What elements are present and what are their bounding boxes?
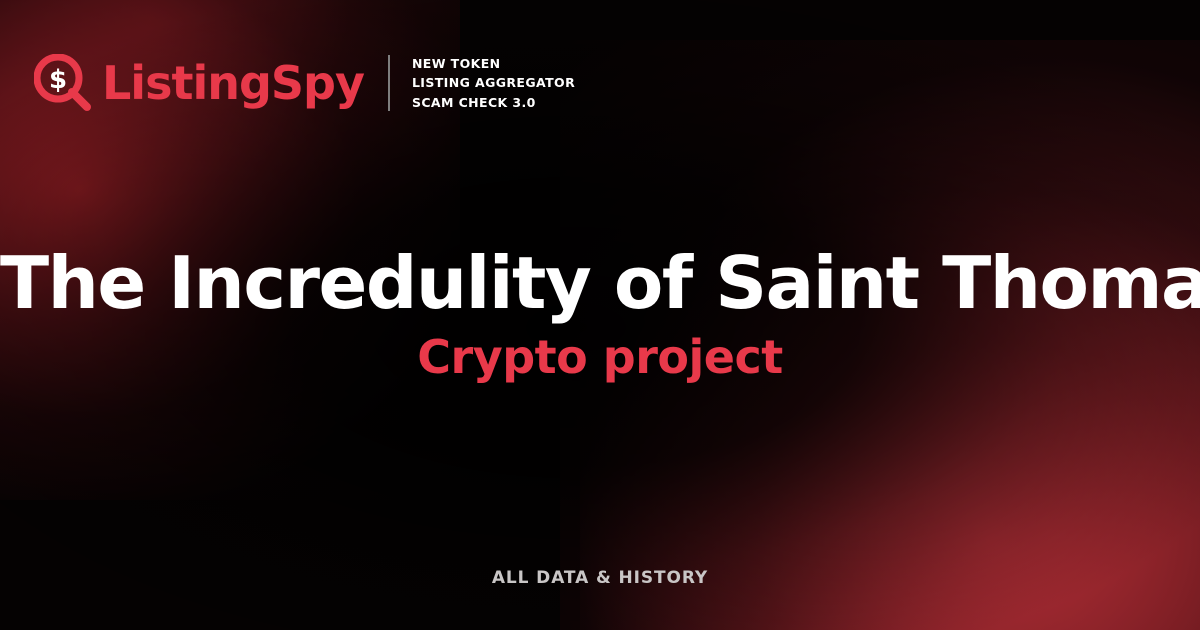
footer-caption: ALL DATA & HISTORY [492,568,708,588]
page-title: The Incredulity of Saint Thoma... [0,243,1200,324]
background-glow-top-left [0,0,460,280]
hero-section: The Incredulity of Saint Thoma... Crypto… [0,243,1200,382]
promo-banner: $ ListingSpy NEW TOKEN LISTING AGGREGATO… [0,0,1200,630]
brand-wordmark: ListingSpy [102,60,364,106]
tagline-line-1: NEW TOKEN [412,56,501,71]
svg-text:$: $ [49,65,67,95]
tagline-line-2: LISTING AGGREGATOR [412,75,575,90]
brand-header: $ ListingSpy NEW TOKEN LISTING AGGREGATO… [34,54,575,112]
footer-section: ALL DATA & HISTORY [0,568,1200,588]
tagline-line-3: SCAM CHECK 3.0 [412,95,536,110]
header-divider [388,55,390,111]
brand-tagline: NEW TOKEN LISTING AGGREGATOR SCAM CHECK … [412,54,575,112]
magnifier-dollar-icon: $ [34,54,92,112]
page-subtitle: Crypto project [0,332,1200,383]
